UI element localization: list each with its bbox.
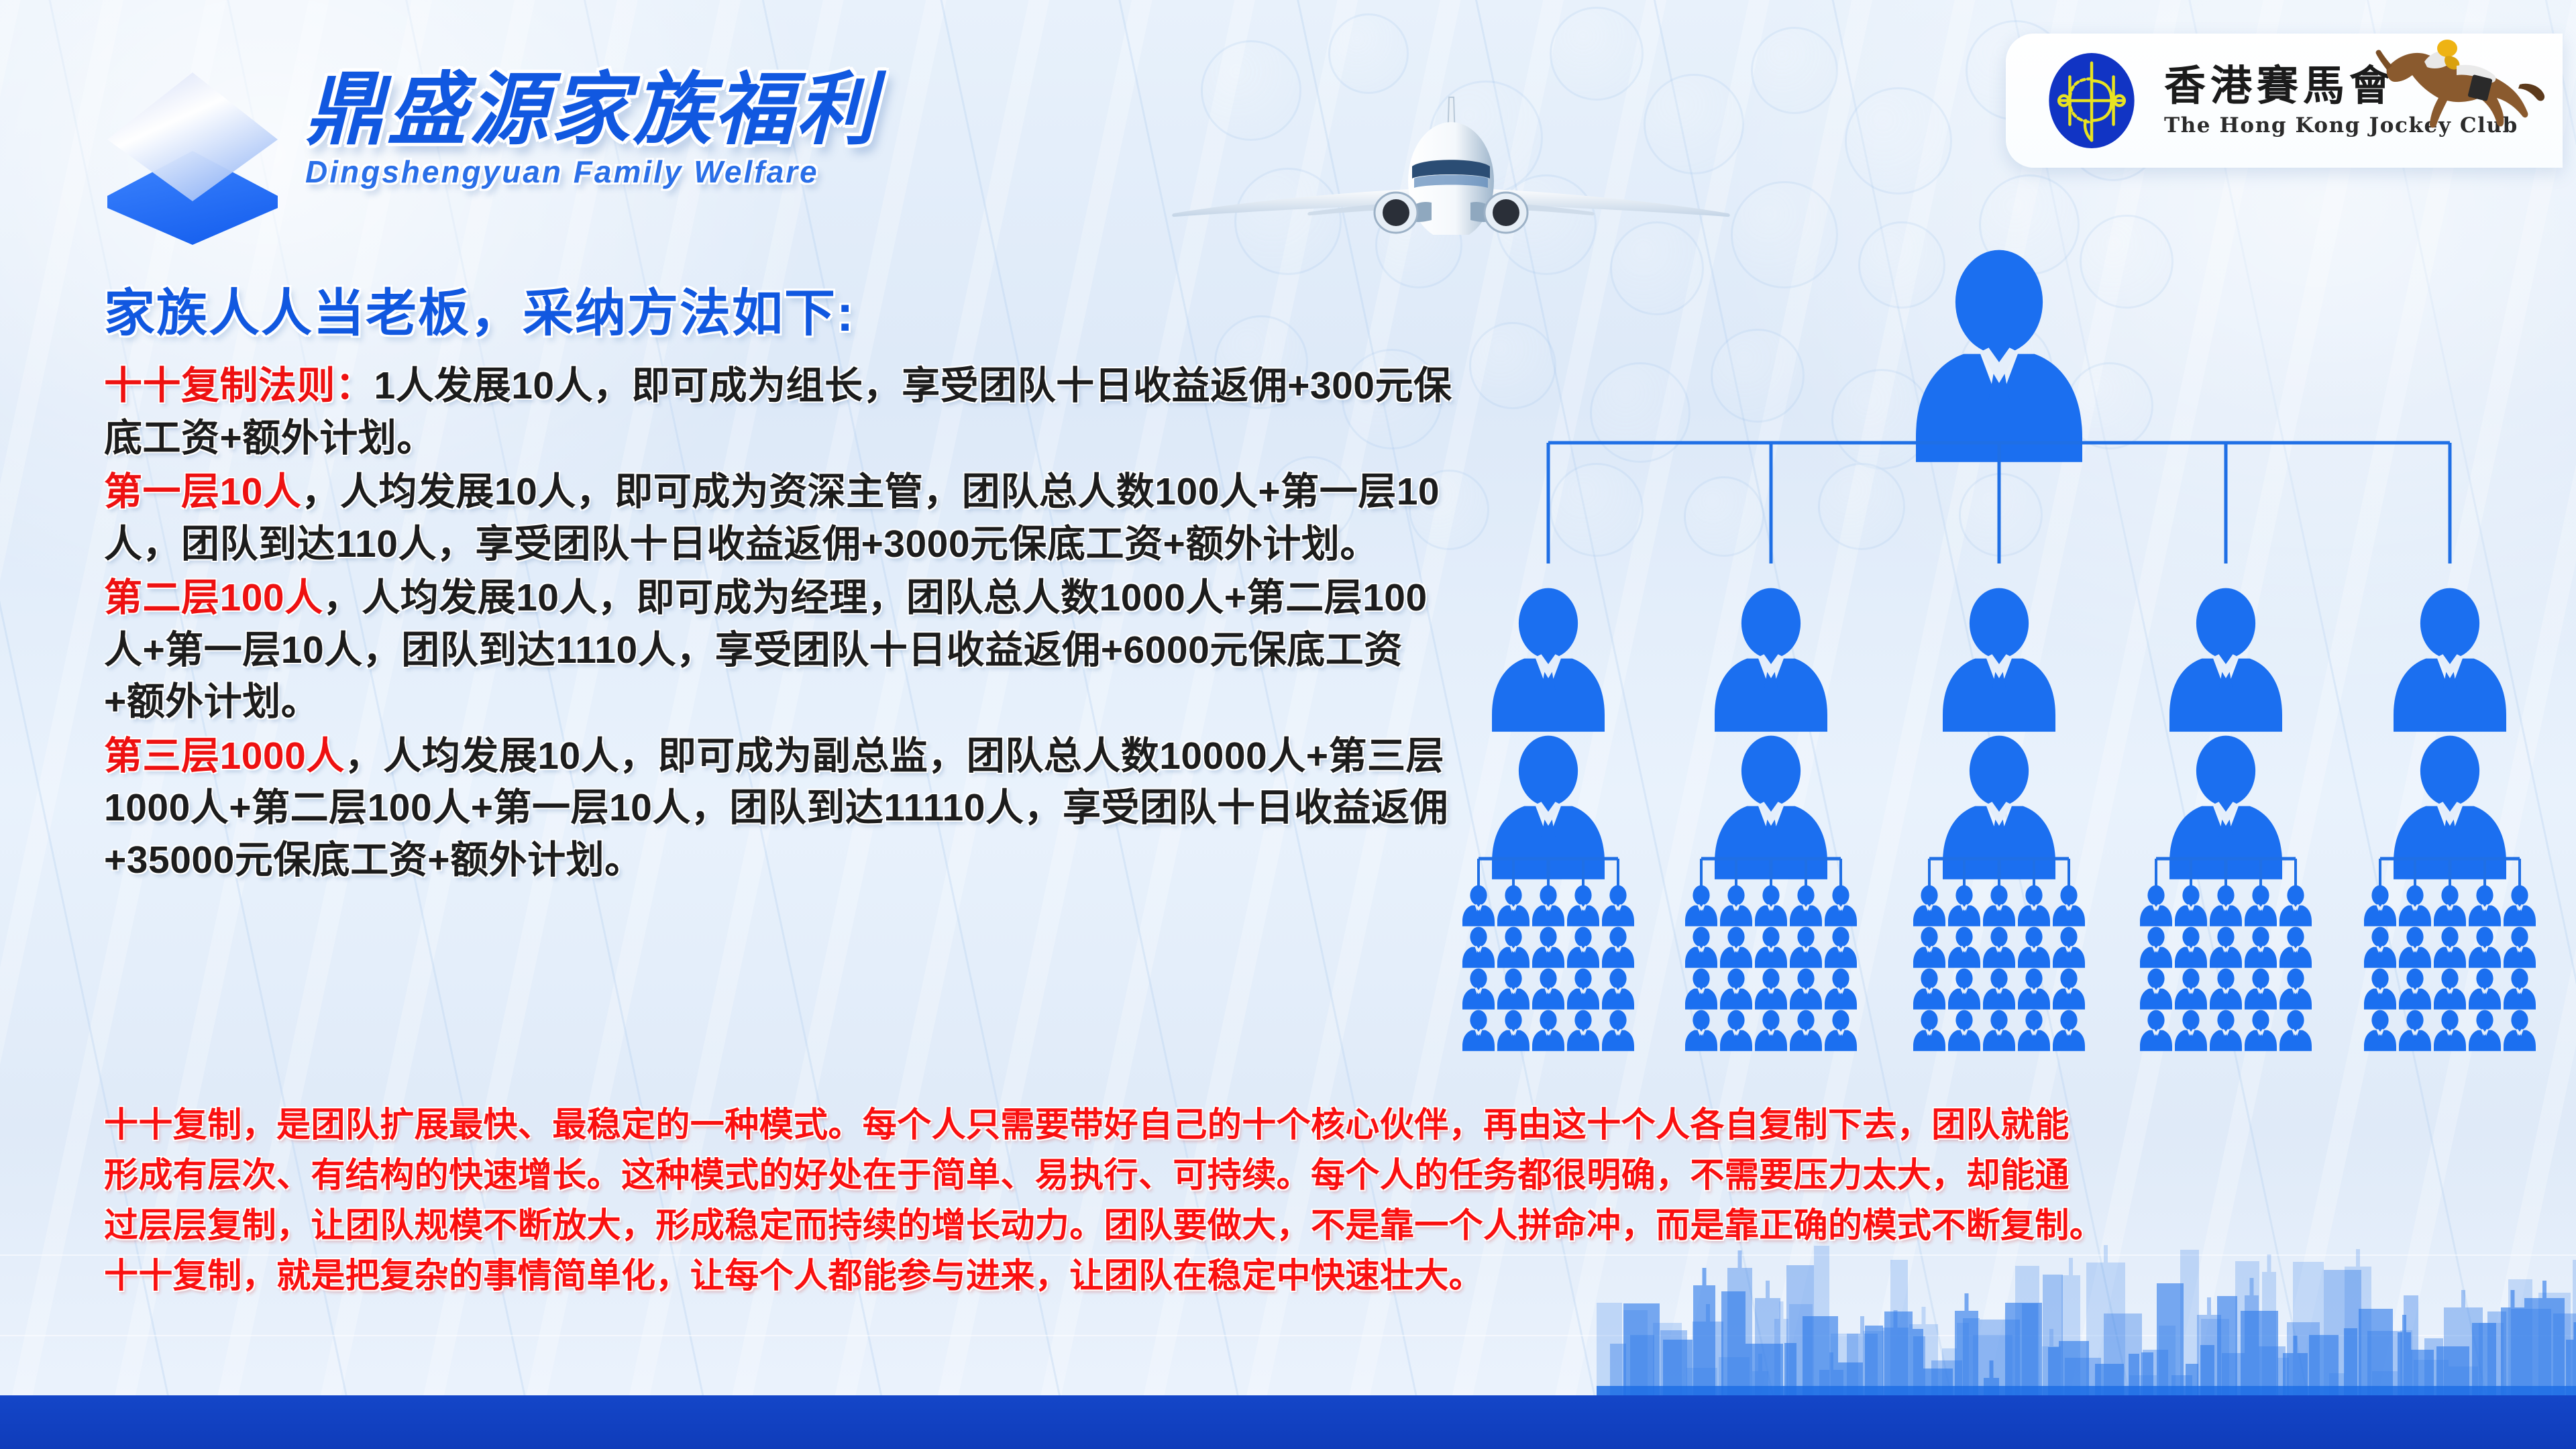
rules-list: 十十复制法则：1人发展10人，即可成为组长，享受团队十日收益返佣+300元保底工…	[104, 360, 1452, 886]
crowd-person-figure	[2140, 885, 2172, 926]
hkjc-emblem-icon	[2042, 51, 2141, 150]
poster-canvas: 鼎盛源家族福利 Dingshengyuan Family Welfare	[0, 0, 2576, 1449]
crowd-person-figure	[1755, 969, 1787, 1010]
crowd-person-figure	[2469, 969, 2501, 1010]
rule-paragraph: 第二层100人，人均发展10人，即可成为经理，团队总人数1000人+第二层100…	[104, 572, 1452, 729]
summary-line: 过层层复制，让团队规模不断放大，形成稳定而持续的增长动力。团队要做大，不是靠一个…	[104, 1201, 2492, 1251]
summary-line: 十十复制，是团队扩展最快、最稳定的一种模式。每个人只需要带好自己的十个核心伙伴，…	[104, 1100, 2492, 1150]
rule-paragraph: 十十复制法则：1人发展10人，即可成为组长，享受团队十日收益返佣+300元保底工…	[104, 360, 1452, 464]
crowd-person-figure	[2504, 885, 2536, 926]
crowd-person-figure	[2175, 927, 2207, 968]
crowd-person-figure	[1948, 927, 1980, 968]
crowd-person-figure	[1720, 1010, 1752, 1051]
crowd-person-figure	[1602, 927, 1634, 968]
crowd-person-figure	[1825, 969, 1857, 1010]
crowd-person-figure	[1532, 1010, 1564, 1051]
crowd-person-figure	[1685, 927, 1717, 968]
rule-lead: 第三层1000人	[104, 735, 345, 777]
crowd-person-figure	[1685, 885, 1717, 926]
crowd-person-figure	[2245, 1010, 2277, 1051]
tier1-person-figure	[2169, 588, 2282, 732]
brand-title-cn: 鼎盛源家族福利	[305, 70, 878, 150]
root-person-figure	[1916, 250, 2082, 462]
crowd-person-figure	[2140, 927, 2172, 968]
crowd-person-figure	[2364, 1010, 2396, 1051]
crowd-person-figure	[1913, 885, 1945, 926]
crowd-person-figure	[2469, 885, 2501, 926]
crowd-person-figure	[1497, 927, 1529, 968]
tier1-person-figure	[2394, 588, 2506, 732]
crowd-person-figure	[1462, 1010, 1495, 1051]
crowd-person-figure	[2210, 927, 2242, 968]
crowd-person-figure	[1790, 969, 1822, 1010]
crowd-person-figure	[1825, 885, 1857, 926]
crowd-person-figure	[1532, 927, 1564, 968]
crowd-person-figure	[1602, 885, 1634, 926]
brand-title-block: 鼎盛源家族福利 Dingshengyuan Family Welfare	[305, 70, 878, 190]
crowd-person-figure	[1983, 885, 2015, 926]
layered-diamond-logo	[102, 67, 283, 245]
crowd-person-figure	[2018, 927, 2050, 968]
section-heading: 家族人人当老板，采纳方法如下:	[104, 272, 1452, 345]
crowd-person-figure	[2053, 927, 2085, 968]
crowd-person-figure	[1720, 969, 1752, 1010]
crowd-person-figure	[2053, 969, 2085, 1010]
crowd-person-figure	[2279, 927, 2312, 968]
tier1-person-figure	[1492, 588, 1605, 732]
crowd-person-figure	[2053, 885, 2085, 926]
rule-lead: 第一层10人	[104, 470, 301, 513]
crowd-person-figure	[1948, 1010, 1980, 1051]
crowd-person-figure	[1913, 1010, 1945, 1051]
crowd-person-figure	[2279, 885, 2312, 926]
crowd-person-figure	[1462, 885, 1495, 926]
rule-lead: 第二层100人	[104, 576, 323, 619]
rule-body: ，人均发展10人，即可成为资深主管，团队总人数100人+第一层10人，团队到达1…	[104, 470, 1440, 566]
crowd-person-figure	[2399, 969, 2431, 1010]
crowd-person-figure	[1790, 885, 1822, 926]
crowd-person-figure	[2018, 885, 2050, 926]
crowd-person-figure	[1567, 927, 1599, 968]
crowd-person-figure	[1983, 969, 2015, 1010]
summary-paragraph: 十十复制，是团队扩展最快、最稳定的一种模式。每个人只需要带好自己的十个核心伙伴，…	[104, 1100, 2492, 1301]
crowd-person-figure	[2504, 1010, 2536, 1051]
crowd-person-figure	[1497, 885, 1529, 926]
airplane-front-icon	[1161, 47, 1737, 235]
racehorse-jockey-icon	[2345, 21, 2546, 142]
hkjc-partner-badge: 香港賽馬會 The Hong Kong Jockey Club	[2006, 34, 2563, 168]
crowd-person-figure	[2245, 885, 2277, 926]
crowd-person-figure	[1720, 927, 1752, 968]
crowd-person-figure	[2364, 927, 2396, 968]
crowd-person-figure	[1497, 1010, 1529, 1051]
org-hierarchy-icon	[1436, 235, 2563, 1087]
crowd-person-figure	[1983, 1010, 2015, 1051]
rule-paragraph: 第一层10人，人均发展10人，即可成为资深主管，团队总人数100人+第一层10人…	[104, 466, 1452, 570]
bottom-color-bar	[0, 1395, 2576, 1449]
crowd-person-figure	[2279, 969, 2312, 1010]
crowd-person-figure	[1685, 1010, 1717, 1051]
crowd-person-figure	[1532, 885, 1564, 926]
rule-paragraph: 第三层1000人，人均发展10人，即可成为副总监，团队总人数10000人+第三层…	[104, 731, 1452, 887]
crowd-person-figure	[2245, 927, 2277, 968]
crowd-person-figure	[2140, 969, 2172, 1010]
crowd-person-figure	[2175, 969, 2207, 1010]
crowd-person-figure	[2018, 1010, 2050, 1051]
rules-text-column: 家族人人当老板，采纳方法如下: 十十复制法则：1人发展10人，即可成为组长，享受…	[104, 272, 1452, 888]
crowd-person-figure	[1913, 969, 1945, 1010]
crowd-person-figure	[2504, 969, 2536, 1010]
crowd-person-figure	[2175, 1010, 2207, 1051]
crowd-person-figure	[2364, 969, 2396, 1010]
crowd-person-figure	[1567, 1010, 1599, 1051]
org-chart-svg	[1436, 235, 2563, 1087]
crowd-person-figure	[2018, 969, 2050, 1010]
crowd-person-figure	[2469, 1010, 2501, 1051]
tier1-person-figure	[1715, 588, 1827, 732]
crowd-person-figure	[2434, 969, 2466, 1010]
crowd-person-figure	[1790, 927, 1822, 968]
crowd-person-figure	[1720, 885, 1752, 926]
crowd-person-figure	[2469, 927, 2501, 968]
crowd-person-figure	[2140, 1010, 2172, 1051]
crowd-person-figure	[1755, 1010, 1787, 1051]
crowd-person-figure	[2210, 885, 2242, 926]
crowd-person-figure	[1685, 969, 1717, 1010]
crowd-person-figure	[2053, 1010, 2085, 1051]
crowd-person-figure	[2399, 1010, 2431, 1051]
crowd-person-figure	[2399, 927, 2431, 968]
crowd-person-figure	[1462, 969, 1495, 1010]
crowd-person-figure	[1567, 969, 1599, 1010]
summary-line: 十十复制，就是把复杂的事情简单化，让每个人都能参与进来，让团队在稳定中快速壮大。	[104, 1251, 2492, 1301]
crowd-person-figure	[1497, 969, 1529, 1010]
crowd-person-figure	[1602, 969, 1634, 1010]
crowd-person-figure	[1532, 969, 1564, 1010]
crowd-person-figure	[2434, 1010, 2466, 1051]
crowd-person-figure	[1602, 1010, 1634, 1051]
crowd-person-figure	[1825, 1010, 1857, 1051]
crowd-person-figure	[1755, 885, 1787, 926]
summary-line: 形成有层次、有结构的快速增长。这种模式的好处在于简单、易执行、可持续。每个人的任…	[104, 1150, 2492, 1201]
crowd-person-figure	[1825, 927, 1857, 968]
crowd-person-figure	[2364, 885, 2396, 926]
brand-title-en: Dingshengyuan Family Welfare	[305, 154, 878, 190]
crowd-person-figure	[1790, 1010, 1822, 1051]
rule-lead: 十十复制法则：	[104, 364, 374, 407]
crowd-person-figure	[2279, 1010, 2312, 1051]
crowd-person-figure	[1567, 885, 1599, 926]
tier1-person-figure	[1943, 588, 2055, 732]
crowd-person-figure	[2175, 885, 2207, 926]
crowd-person-figure	[2210, 1010, 2242, 1051]
crowd-person-figure	[2399, 885, 2431, 926]
crowd-person-figure	[1755, 927, 1787, 968]
crowd-person-figure	[1948, 885, 1980, 926]
poster-header: 鼎盛源家族福利 Dingshengyuan Family Welfare	[0, 0, 2576, 241]
crowd-person-figure	[2210, 969, 2242, 1010]
crowd-person-figure	[1913, 927, 1945, 968]
crowd-person-figure	[2504, 927, 2536, 968]
crowd-person-figure	[2245, 969, 2277, 1010]
crowd-person-figure	[1462, 927, 1495, 968]
crowd-person-figure	[2434, 885, 2466, 926]
crowd-person-figure	[1983, 927, 2015, 968]
crowd-person-figure	[2434, 927, 2466, 968]
crowd-person-figure	[1948, 969, 1980, 1010]
